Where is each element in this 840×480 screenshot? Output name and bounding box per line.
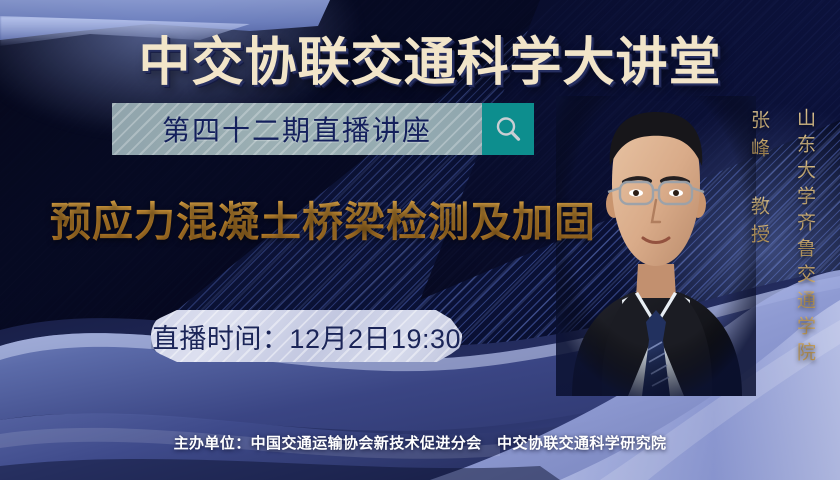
subtitle-bar-label: 第四十二期直播讲座 bbox=[162, 109, 432, 149]
speaker-organization: 山东大学齐鲁交通学院 bbox=[791, 108, 818, 368]
subtitle-bar-body: 第四十二期直播讲座 bbox=[112, 103, 482, 155]
organizer-footer: 主办单位：中国交通运输协会新技术促进分会 中交协联交通科学研究院 bbox=[0, 432, 840, 453]
speaker-role: 教授 bbox=[745, 196, 772, 252]
live-lecture-poster: 中交协联交通科学大讲堂 第四十二期直播讲座 预应力混凝土桥梁检测及加固 直播时间… bbox=[0, 0, 840, 480]
lecture-title: 预应力混凝土桥梁检测及加固 bbox=[50, 188, 596, 248]
live-time-badge: 直播时间：12月2日19:30 bbox=[151, 310, 462, 362]
live-time-text: 直播时间：12月2日19:30 bbox=[152, 317, 461, 356]
speaker-name: 张峰 bbox=[745, 110, 772, 166]
poster-brand-title: 中交协联交通科学大讲堂 bbox=[0, 20, 840, 95]
subtitle-bar: 第四十二期直播讲座 bbox=[112, 103, 534, 155]
search-icon[interactable] bbox=[482, 103, 534, 155]
